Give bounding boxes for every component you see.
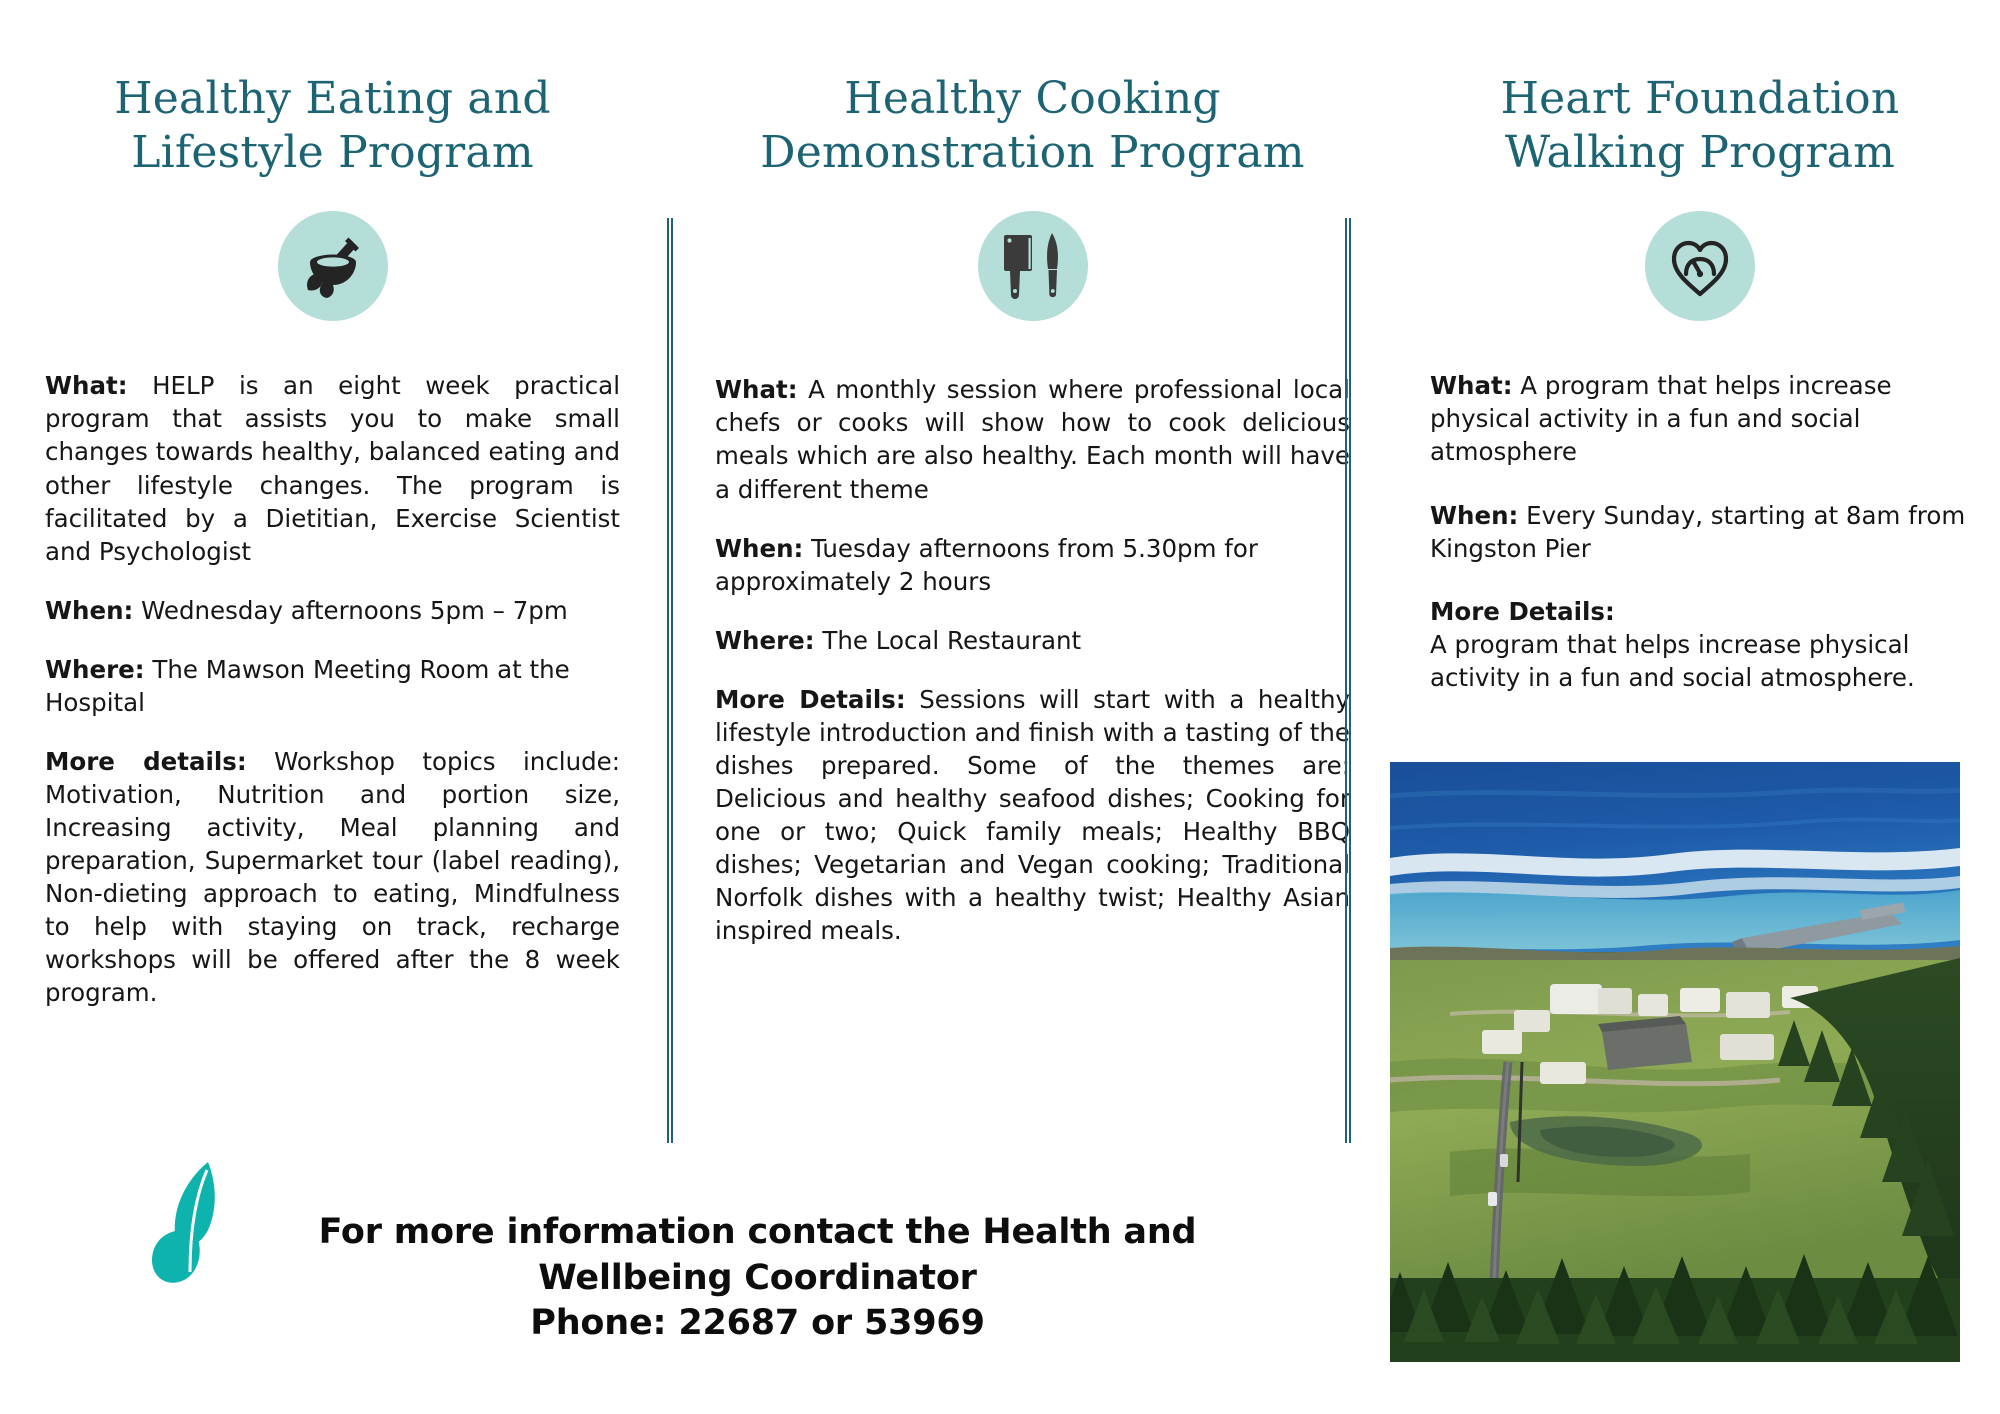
paragraph-where: Where: The Mawson Meeting Room at the Ho… [45,653,620,719]
program-title-line-1: Healthy Cooking [844,73,1220,124]
footer-line-2: Wellbeing Coordinator [280,1256,1235,1302]
program-title-line-2: Lifestyle Program [131,127,534,178]
footer-contact-text: For more information contact the Health … [280,1210,1345,1347]
program-title-healthy-eating: Healthy Eating and Lifestyle Program [45,0,620,179]
divider-line [667,218,669,1143]
paragraph-lead: What: [45,371,128,400]
paragraph-what: What: A program that helps increase phys… [1430,369,1970,468]
mortar-and-pestle-icon [296,229,370,303]
footer-line-1: For more information contact the Health … [280,1210,1235,1256]
icon-badge-heart-foundation [1645,211,1755,321]
icon-badge-healthy-eating [278,211,388,321]
paragraph-when: When: Wednesday afternoons 5pm – 7pm [45,594,620,627]
icon-badge-wrap-healthy-eating [45,211,620,321]
paragraph-text: A monthly session where professional loc… [715,375,1350,503]
program-title-line-2: Demonstration Program [760,127,1304,178]
program-title-line-2: Walking Program [1505,127,1895,178]
paragraph-lead: More details: [45,747,247,776]
paragraph-text: Workshop topics include: Motivation, Nut… [45,747,620,1007]
program-body-healthy-cooking: What: A monthly session where profession… [715,373,1350,947]
paragraph-lead: More Details: [1430,597,1615,626]
flyer-page: Healthy Eating and Lifestyle Program [0,0,2000,1414]
paragraph-what: What: HELP is an eight week practical pr… [45,369,620,567]
paragraph-lead: Where: [715,626,815,655]
heart-pulse-icon [1664,230,1736,302]
paragraph-text: The Local Restaurant [815,626,1082,655]
paragraph-when: When: Tuesday afternoons from 5.30pm for… [715,532,1350,598]
paragraph-lead: When: [1430,501,1518,530]
paragraph-more-details: More Details: Sessions will start with a… [715,683,1350,948]
paragraph-lead: Where: [45,655,145,684]
program-column-healthy-eating: Healthy Eating and Lifestyle Program [0,0,660,1160]
paragraph-when: When: Every Sunday, starting at 8am from… [1430,499,1970,565]
divider-line [1349,218,1351,1143]
footer-contact: For more information contact the Health … [0,1155,1345,1385]
program-body-heart-foundation: What: A program that helps increase phys… [1430,369,1970,694]
paragraph-where: Where: The Local Restaurant [715,624,1350,657]
paragraph-lead: More Details: [715,685,906,714]
paragraph-more-details: More Details: A program that helps incre… [1430,595,1970,694]
program-title-line-1: Heart Foundation [1501,73,1900,124]
column-divider-right [1345,218,1351,1143]
program-body-healthy-eating: What: HELP is an eight week practical pr… [45,369,620,1009]
column-divider-left [667,218,673,1143]
kingston-pier-aerial-photo [1390,762,1960,1362]
program-title-line-1: Healthy Eating and [114,73,551,124]
paragraph-lead: What: [715,375,798,404]
program-title-heart-foundation-walking: Heart Foundation Walking Program [1430,0,1970,179]
paragraph-lead: When: [45,596,133,625]
leaf-logo [150,1160,270,1304]
paragraph-more-details: More details: Workshop topics include: M… [45,745,620,1010]
paragraph-lead: What: [1430,371,1513,400]
icon-badge-wrap-healthy-cooking [715,211,1350,321]
paragraph-text: Sessions will start with a healthy lifes… [715,685,1350,945]
divider-line [1345,218,1347,1143]
icon-badge-healthy-cooking [978,211,1088,321]
icon-badge-wrap-heart-foundation [1430,211,1970,321]
paragraph-text: HELP is an eight week practical program … [45,371,620,565]
cleaver-and-knife-icon [998,229,1068,303]
footer-line-3: Phone: 22687 or 53969 [280,1301,1235,1347]
program-column-healthy-cooking: Healthy Cooking Demonstration Program [660,0,1380,1160]
paragraph-text: Wednesday afternoons 5pm – 7pm [133,596,567,625]
paragraph-text: A program that helps increase physical a… [1430,630,1915,692]
paragraph-lead: When: [715,534,803,563]
divider-line [671,218,673,1143]
paragraph-what: What: A monthly session where profession… [715,373,1350,505]
program-title-healthy-cooking: Healthy Cooking Demonstration Program [715,0,1350,179]
